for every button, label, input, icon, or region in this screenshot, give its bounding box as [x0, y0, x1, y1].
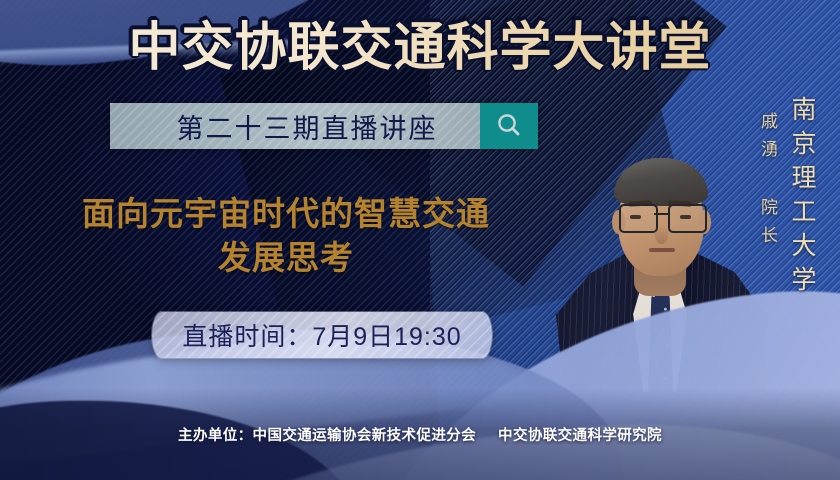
broadcast-time-badge: 直播时间：7月9日19:30: [152, 312, 492, 358]
footer-organizer-1: 中国交通运输协会新技术促进分会: [253, 428, 477, 444]
live-stream-poster: 中交协联交通科学大讲堂 第二十三期直播讲座 面向元宇宙时代的智慧交通 发展思考 …: [0, 0, 840, 480]
session-bar-body: 第二十三期直播讲座: [110, 103, 480, 149]
portrait-hair: [614, 158, 708, 206]
lecture-topic-line2: 发展思考: [24, 236, 548, 280]
search-button[interactable]: [480, 103, 538, 149]
portrait-mouth: [649, 248, 675, 252]
broadcast-time-label: 直播时间：7月9日19:30: [182, 317, 461, 353]
session-label: 第二十三期直播讲座: [153, 107, 438, 146]
speaker-organization: 南京理工大学: [784, 96, 820, 300]
speaker-name-title: 戚湧 院长: [755, 112, 780, 254]
portrait-glasses-lens-right: [668, 204, 707, 233]
session-bar: 第二十三期直播讲座: [110, 103, 538, 149]
footer-organizers: 主办单位：中国交通运输协会新技术促进分会中交协联交通科学研究院: [0, 424, 840, 445]
lecture-topic-line1: 面向元宇宙时代的智慧交通: [24, 192, 548, 236]
lecture-topic: 面向元宇宙时代的智慧交通 发展思考: [24, 192, 548, 280]
portrait-glasses-bridge: [654, 213, 668, 215]
footer-prefix: 主办单位：: [178, 428, 253, 444]
search-icon: [494, 111, 524, 141]
portrait-glasses-lens-left: [619, 204, 658, 233]
footer-organizer-2: 中交协联交通科学研究院: [498, 428, 662, 444]
portrait-nose: [655, 226, 668, 244]
page-title: 中交协联交通科学大讲堂: [0, 16, 840, 80]
